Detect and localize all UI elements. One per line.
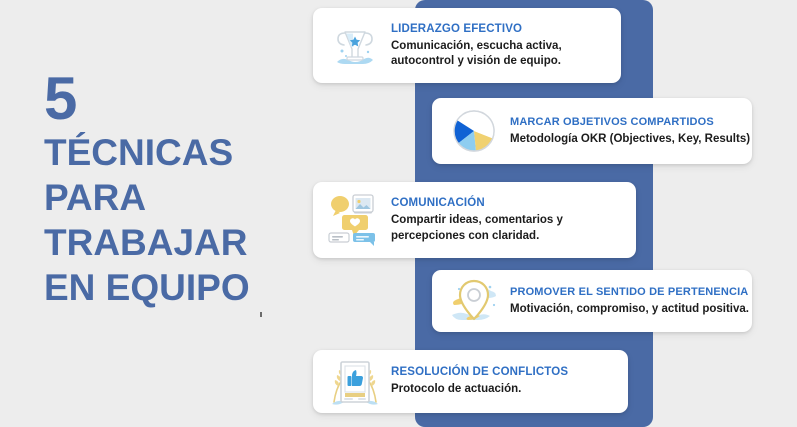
card-marcar-objetivos-compartidos[interactable]: MARCAR OBJETIVOS COMPARTIDOS Metodología… — [432, 98, 752, 164]
card-title: COMUNICACIÓN — [391, 196, 626, 211]
card-description: Metodología OKR (Objectives, Key, Result… — [510, 132, 750, 148]
card-description-line: percepciones con claridad. — [391, 229, 626, 245]
decorative-dot — [260, 312, 262, 317]
card-title: RESOLUCIÓN DE CONFLICTOS — [391, 365, 618, 380]
card-comunicacion[interactable]: COMUNICACIÓN Compartir ideas, comentario… — [313, 182, 636, 258]
card-description: Compartir ideas, comentarios y percepcio… — [391, 213, 626, 244]
headline-line-3: TRABAJAR — [44, 220, 294, 265]
headline-lines: TÉCNICAS PARA TRABAJAR EN EQUIPO — [44, 130, 294, 310]
card-text-block: COMUNICACIÓN Compartir ideas, comentario… — [391, 196, 636, 244]
card-description-line: Comunicación, escucha activa, — [391, 39, 611, 55]
card-title: PROMOVER EL SENTIDO DE PERTENENCIA — [510, 285, 749, 300]
card-text-block: LIDERAZGO EFECTIVO Comunicación, escucha… — [391, 22, 621, 70]
card-title: LIDERAZGO EFECTIVO — [391, 22, 611, 37]
headline-number: 5 — [44, 70, 294, 128]
card-promover-el-sentido-de-pertenencia[interactable]: PROMOVER EL SENTIDO DE PERTENENCIA Motiv… — [432, 270, 752, 332]
pie-chart-icon — [438, 100, 510, 162]
card-description-line: Motivación, compromiso, y actitud positi… — [510, 302, 749, 318]
card-description-line: autocontrol y visión de equipo. — [391, 54, 611, 70]
card-title: MARCAR OBJETIVOS COMPARTIDOS — [510, 115, 750, 130]
card-description: Protocolo de actuación. — [391, 382, 618, 398]
card-description: Comunicación, escucha activa, autocontro… — [391, 39, 611, 70]
headline-block: 5 TÉCNICAS PARA TRABAJAR EN EQUIPO — [44, 70, 294, 310]
headline-line-4: EN EQUIPO — [44, 265, 294, 310]
headline-line-1: TÉCNICAS — [44, 130, 294, 175]
card-description-line: Metodología OKR (Objectives, Key, Result… — [510, 132, 750, 148]
card-text-block: RESOLUCIÓN DE CONFLICTOS Protocolo de ac… — [391, 365, 628, 398]
card-text-block: PROMOVER EL SENTIDO DE PERTENENCIA Motiv… — [510, 285, 759, 318]
trophy-icon — [319, 15, 391, 77]
card-description-line: Protocolo de actuación. — [391, 382, 618, 398]
card-resolucion-de-conflictos[interactable]: RESOLUCIÓN DE CONFLICTOS Protocolo de ac… — [313, 350, 628, 413]
card-liderazgo-efectivo[interactable]: LIDERAZGO EFECTIVO Comunicación, escucha… — [313, 8, 621, 83]
card-description: Motivación, compromiso, y actitud positi… — [510, 302, 749, 318]
headline-line-2: PARA — [44, 175, 294, 220]
speech-bubbles-icon — [319, 189, 391, 251]
location-pin-icon — [438, 270, 510, 332]
card-description-line: Compartir ideas, comentarios y — [391, 213, 626, 229]
thumbs-up-frame-icon — [319, 351, 391, 413]
infographic-slide: 5 TÉCNICAS PARA TRABAJAR EN EQUIPO — [0, 0, 797, 427]
card-text-block: MARCAR OBJETIVOS COMPARTIDOS Metodología… — [510, 115, 760, 148]
